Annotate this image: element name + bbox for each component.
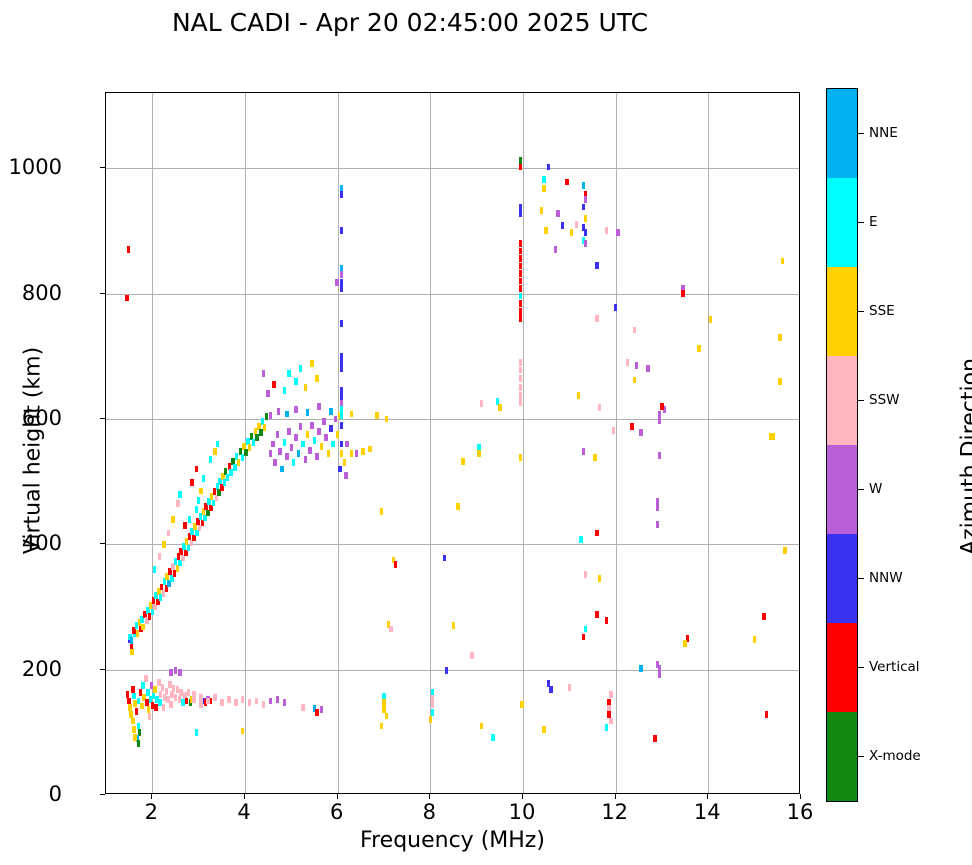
data-point	[285, 411, 289, 418]
data-point	[128, 704, 132, 711]
data-point	[248, 699, 252, 706]
colorbar-label-sse: SSE	[869, 303, 895, 319]
x-tick-mark	[244, 794, 245, 799]
data-point	[519, 375, 523, 382]
colorbar-label-e: E	[869, 214, 878, 230]
y-tick-label: 1000	[9, 155, 62, 179]
colorbar-label-x-mode: X-mode	[869, 748, 921, 764]
data-point	[762, 613, 766, 620]
data-point	[361, 448, 365, 455]
data-point	[287, 370, 291, 377]
data-point	[635, 362, 639, 369]
data-point	[542, 176, 546, 183]
data-point	[519, 278, 523, 285]
data-point	[294, 434, 298, 441]
x-axis-label: Frequency (MHz)	[105, 828, 800, 853]
data-point	[199, 488, 203, 495]
data-point	[290, 444, 294, 451]
data-point	[656, 661, 660, 668]
data-point	[169, 669, 173, 676]
data-point	[681, 290, 685, 297]
data-point	[582, 634, 586, 641]
data-point	[140, 703, 144, 710]
data-point	[380, 723, 384, 730]
colorbar-segment-nne	[827, 89, 857, 178]
data-point	[519, 293, 523, 300]
x-tick-mark	[337, 794, 338, 799]
data-point	[765, 711, 769, 718]
data-point	[135, 708, 139, 715]
data-point	[183, 522, 187, 529]
data-point	[595, 530, 599, 537]
colorbar-tick-mark	[858, 756, 864, 757]
data-point	[639, 665, 643, 672]
data-point	[542, 185, 546, 192]
data-point	[308, 447, 312, 454]
data-point	[605, 617, 609, 624]
colorbar-tick-mark	[858, 222, 864, 223]
data-point	[340, 191, 344, 198]
data-point	[582, 204, 586, 211]
data-point	[609, 691, 613, 698]
data-point	[277, 408, 281, 415]
x-tick-mark	[800, 794, 801, 799]
data-point	[188, 516, 192, 523]
data-point	[213, 694, 217, 701]
data-point	[584, 196, 588, 203]
data-point	[519, 392, 523, 399]
colorbar-label-ssw: SSW	[869, 392, 900, 408]
data-point	[658, 452, 662, 459]
data-point	[456, 503, 460, 510]
data-point	[292, 459, 296, 466]
data-point	[660, 403, 664, 410]
data-point	[605, 227, 609, 234]
data-point	[445, 667, 449, 674]
data-point	[431, 709, 435, 716]
data-point	[598, 575, 602, 582]
data-point	[335, 279, 339, 286]
data-point	[697, 345, 701, 352]
data-point	[626, 359, 630, 366]
data-point	[595, 315, 599, 322]
data-point	[283, 699, 287, 706]
data-point	[547, 164, 551, 171]
data-point	[306, 431, 310, 438]
x-tick-mark	[522, 794, 523, 799]
colorbar-label-nnw: NNW	[869, 570, 903, 586]
data-point	[480, 723, 484, 730]
data-point	[542, 726, 546, 733]
data-point	[146, 689, 150, 696]
y-tick-mark	[100, 418, 105, 419]
data-point	[340, 450, 344, 457]
data-point	[336, 431, 340, 438]
colorbar-tick-mark	[858, 667, 864, 668]
data-point	[234, 699, 238, 706]
y-axis-ticks: 02004006008001000	[0, 0, 94, 865]
data-point	[565, 179, 569, 186]
data-point	[549, 686, 553, 693]
x-tick-mark	[151, 794, 152, 799]
data-point	[470, 652, 474, 659]
data-point	[324, 434, 328, 441]
data-point	[297, 450, 301, 457]
data-point	[577, 392, 581, 399]
data-point	[519, 399, 523, 406]
data-point	[582, 448, 586, 455]
data-point	[334, 416, 338, 423]
colorbar-segment-vertical	[827, 623, 857, 712]
colorbar-tick-mark	[858, 578, 864, 579]
data-point	[584, 229, 588, 236]
data-point	[197, 497, 201, 504]
y-tick-mark	[100, 293, 105, 294]
data-point	[519, 359, 523, 366]
data-point	[380, 508, 384, 515]
y-tick-mark	[100, 543, 105, 544]
x-tick-mark	[429, 794, 430, 799]
data-point	[216, 441, 220, 448]
colorbar-segment-w	[827, 445, 857, 534]
data-point	[266, 390, 270, 397]
data-point	[187, 689, 191, 696]
x-tick-label: 4	[237, 800, 250, 824]
data-point	[429, 716, 433, 723]
data-point	[630, 423, 634, 430]
data-point	[389, 626, 393, 633]
data-point	[241, 728, 245, 735]
data-point	[285, 453, 289, 460]
data-point	[595, 611, 599, 618]
data-point	[137, 740, 141, 747]
data-point	[322, 418, 326, 425]
colorbar-segment-x-mode	[827, 712, 857, 801]
data-point	[227, 696, 231, 703]
data-point	[368, 446, 372, 453]
data-point	[299, 365, 303, 372]
data-point	[598, 404, 602, 411]
data-point	[519, 454, 523, 461]
data-point	[306, 409, 310, 416]
data-point	[280, 466, 284, 473]
data-point	[519, 263, 523, 270]
data-point	[633, 327, 637, 334]
data-point	[272, 381, 276, 388]
scatter-data-layer	[106, 93, 799, 793]
data-point	[452, 622, 456, 629]
data-point	[431, 701, 435, 708]
data-point	[772, 433, 776, 440]
data-point	[213, 448, 217, 455]
colorbar-tick-mark	[858, 400, 864, 401]
data-point	[340, 227, 344, 234]
data-point	[171, 516, 175, 523]
data-point	[519, 384, 523, 391]
data-point	[355, 450, 359, 457]
data-point	[350, 411, 354, 418]
data-point	[570, 229, 574, 236]
data-point	[345, 441, 349, 448]
data-point	[519, 248, 523, 255]
data-point	[520, 701, 524, 708]
data-point	[273, 459, 277, 466]
plot-area	[105, 92, 800, 794]
data-point	[519, 315, 523, 322]
data-point	[131, 718, 135, 725]
data-point	[778, 378, 782, 385]
data-point	[385, 416, 389, 423]
x-tick-label: 14	[694, 800, 721, 824]
data-point	[206, 698, 210, 705]
colorbar-segment-e	[827, 178, 857, 267]
data-point	[265, 413, 269, 420]
data-point	[202, 475, 206, 482]
data-point	[350, 450, 354, 457]
data-point	[491, 734, 495, 741]
data-point	[616, 229, 620, 236]
data-point	[519, 367, 523, 374]
data-point	[584, 240, 588, 247]
colorbar-axis-label: Azimuth Direction	[958, 277, 972, 637]
data-point	[209, 456, 213, 463]
data-point	[382, 706, 386, 713]
data-point	[158, 553, 162, 560]
data-point	[519, 285, 523, 292]
data-point	[683, 640, 687, 647]
y-tick-label: 200	[22, 657, 62, 681]
data-point	[269, 412, 273, 419]
data-point	[301, 441, 305, 448]
data-point	[340, 320, 344, 327]
x-tick-label: 16	[787, 800, 814, 824]
data-point	[561, 222, 565, 229]
data-point	[519, 255, 523, 262]
y-tick-mark	[100, 167, 105, 168]
data-point	[584, 626, 588, 633]
data-point	[304, 384, 308, 391]
data-point	[385, 713, 389, 720]
data-point	[568, 684, 572, 691]
x-tick-label: 8	[423, 800, 436, 824]
data-point	[781, 258, 785, 265]
data-point	[165, 688, 169, 695]
data-point	[614, 304, 618, 311]
data-point	[753, 636, 757, 643]
data-point	[304, 456, 308, 463]
data-point	[220, 699, 224, 706]
x-tick-label: 10	[509, 800, 536, 824]
data-point	[283, 387, 287, 394]
data-point	[477, 450, 481, 457]
data-point	[646, 365, 650, 372]
data-point	[263, 424, 267, 431]
data-point	[310, 422, 314, 429]
data-point	[299, 423, 303, 430]
data-point	[269, 698, 273, 705]
data-point	[593, 454, 597, 461]
data-point	[609, 718, 613, 725]
data-point	[190, 479, 194, 486]
data-point	[283, 439, 287, 446]
colorbar-segment-sse	[827, 267, 857, 356]
data-point	[343, 459, 347, 466]
data-point	[255, 698, 259, 705]
data-point	[294, 378, 298, 385]
y-axis-label: Virtual height (km)	[21, 251, 46, 651]
colorbar-label-vertical: Vertical	[869, 659, 920, 675]
data-point	[195, 506, 199, 513]
x-tick-label: 2	[145, 800, 158, 824]
data-point	[329, 408, 333, 415]
data-point	[276, 431, 280, 438]
data-point	[320, 443, 324, 450]
data-point	[584, 571, 588, 578]
data-point	[162, 541, 166, 548]
y-tick-label: 0	[49, 782, 62, 806]
data-point	[199, 701, 203, 708]
data-point	[519, 210, 523, 217]
data-point	[340, 271, 344, 278]
data-point	[540, 207, 544, 214]
data-point	[126, 691, 130, 698]
data-point	[639, 429, 643, 436]
data-point	[375, 412, 379, 419]
data-point	[612, 427, 616, 434]
data-point	[271, 441, 275, 448]
data-point	[519, 308, 523, 315]
y-tick-mark	[100, 669, 105, 670]
data-point	[153, 686, 157, 693]
data-point	[656, 521, 660, 528]
data-point	[480, 400, 484, 407]
data-point	[195, 729, 199, 736]
page-title: NAL CADI - Apr 20 02:45:00 2025 UTC	[0, 8, 820, 37]
data-point	[658, 417, 662, 424]
data-point	[169, 701, 173, 708]
data-point	[340, 285, 344, 292]
data-point	[269, 450, 273, 457]
data-point	[130, 649, 134, 656]
x-tick-mark	[615, 794, 616, 799]
data-point	[294, 406, 298, 413]
colorbar-tick-mark	[858, 311, 864, 312]
colorbar	[826, 88, 858, 802]
data-point	[315, 453, 319, 460]
data-point	[656, 505, 660, 512]
x-tick-mark	[707, 794, 708, 799]
data-point	[276, 696, 280, 703]
data-point	[148, 713, 152, 720]
data-point	[133, 734, 137, 741]
data-point	[310, 360, 314, 367]
data-point	[575, 221, 579, 228]
colorbar-tick-mark	[858, 489, 864, 490]
data-point	[317, 403, 321, 410]
data-point	[176, 500, 180, 507]
data-point	[153, 566, 157, 573]
data-point	[132, 693, 136, 700]
data-point	[327, 450, 331, 457]
data-point	[262, 370, 266, 377]
data-point	[544, 227, 548, 234]
data-point	[582, 182, 586, 189]
data-point	[461, 458, 465, 465]
data-point	[262, 701, 266, 708]
data-point	[315, 375, 319, 382]
colorbar-segment-nnw	[827, 534, 857, 623]
data-point	[331, 441, 335, 448]
data-point	[287, 428, 291, 435]
data-point	[783, 547, 787, 554]
data-point	[125, 295, 129, 302]
data-point	[394, 561, 398, 568]
data-point	[340, 422, 344, 429]
data-point	[443, 555, 447, 562]
data-point	[195, 466, 199, 473]
colorbar-segment-ssw	[827, 356, 857, 445]
data-point	[595, 262, 599, 269]
data-point	[167, 530, 171, 537]
data-point	[278, 448, 282, 455]
data-point	[144, 675, 148, 682]
data-point	[174, 667, 178, 674]
data-point	[519, 164, 523, 171]
data-point	[340, 441, 344, 448]
data-point	[605, 724, 609, 731]
data-point	[130, 637, 134, 644]
data-point	[584, 215, 588, 222]
data-point	[344, 472, 348, 479]
data-point	[313, 437, 317, 444]
data-point	[317, 428, 321, 435]
data-point	[579, 536, 583, 543]
data-point	[498, 404, 502, 411]
data-point	[301, 704, 305, 711]
data-point	[519, 300, 523, 307]
data-point	[127, 698, 131, 705]
data-point	[178, 491, 182, 498]
data-point	[127, 246, 131, 253]
data-point	[554, 246, 558, 253]
data-point	[340, 365, 344, 372]
colorbar-tick-mark	[858, 133, 864, 134]
data-point	[192, 696, 196, 703]
colorbar-label-nne: NNE	[869, 125, 898, 141]
colorbar-label-w: W	[869, 481, 882, 497]
data-point	[315, 709, 319, 716]
data-point	[519, 270, 523, 277]
data-point	[329, 425, 333, 432]
data-point	[141, 624, 145, 631]
data-point	[556, 210, 560, 217]
data-point	[338, 466, 342, 473]
data-point	[709, 316, 713, 323]
x-tick-label: 6	[330, 800, 343, 824]
data-point	[633, 377, 637, 384]
data-point	[519, 240, 523, 247]
y-tick-mark	[100, 794, 105, 795]
data-point	[141, 682, 145, 689]
data-point	[178, 669, 182, 676]
data-point	[162, 704, 166, 711]
data-point	[340, 412, 344, 419]
data-point	[653, 735, 657, 742]
data-point	[658, 671, 662, 678]
x-tick-label: 12	[601, 800, 628, 824]
data-point	[132, 726, 136, 733]
data-point	[241, 696, 245, 703]
